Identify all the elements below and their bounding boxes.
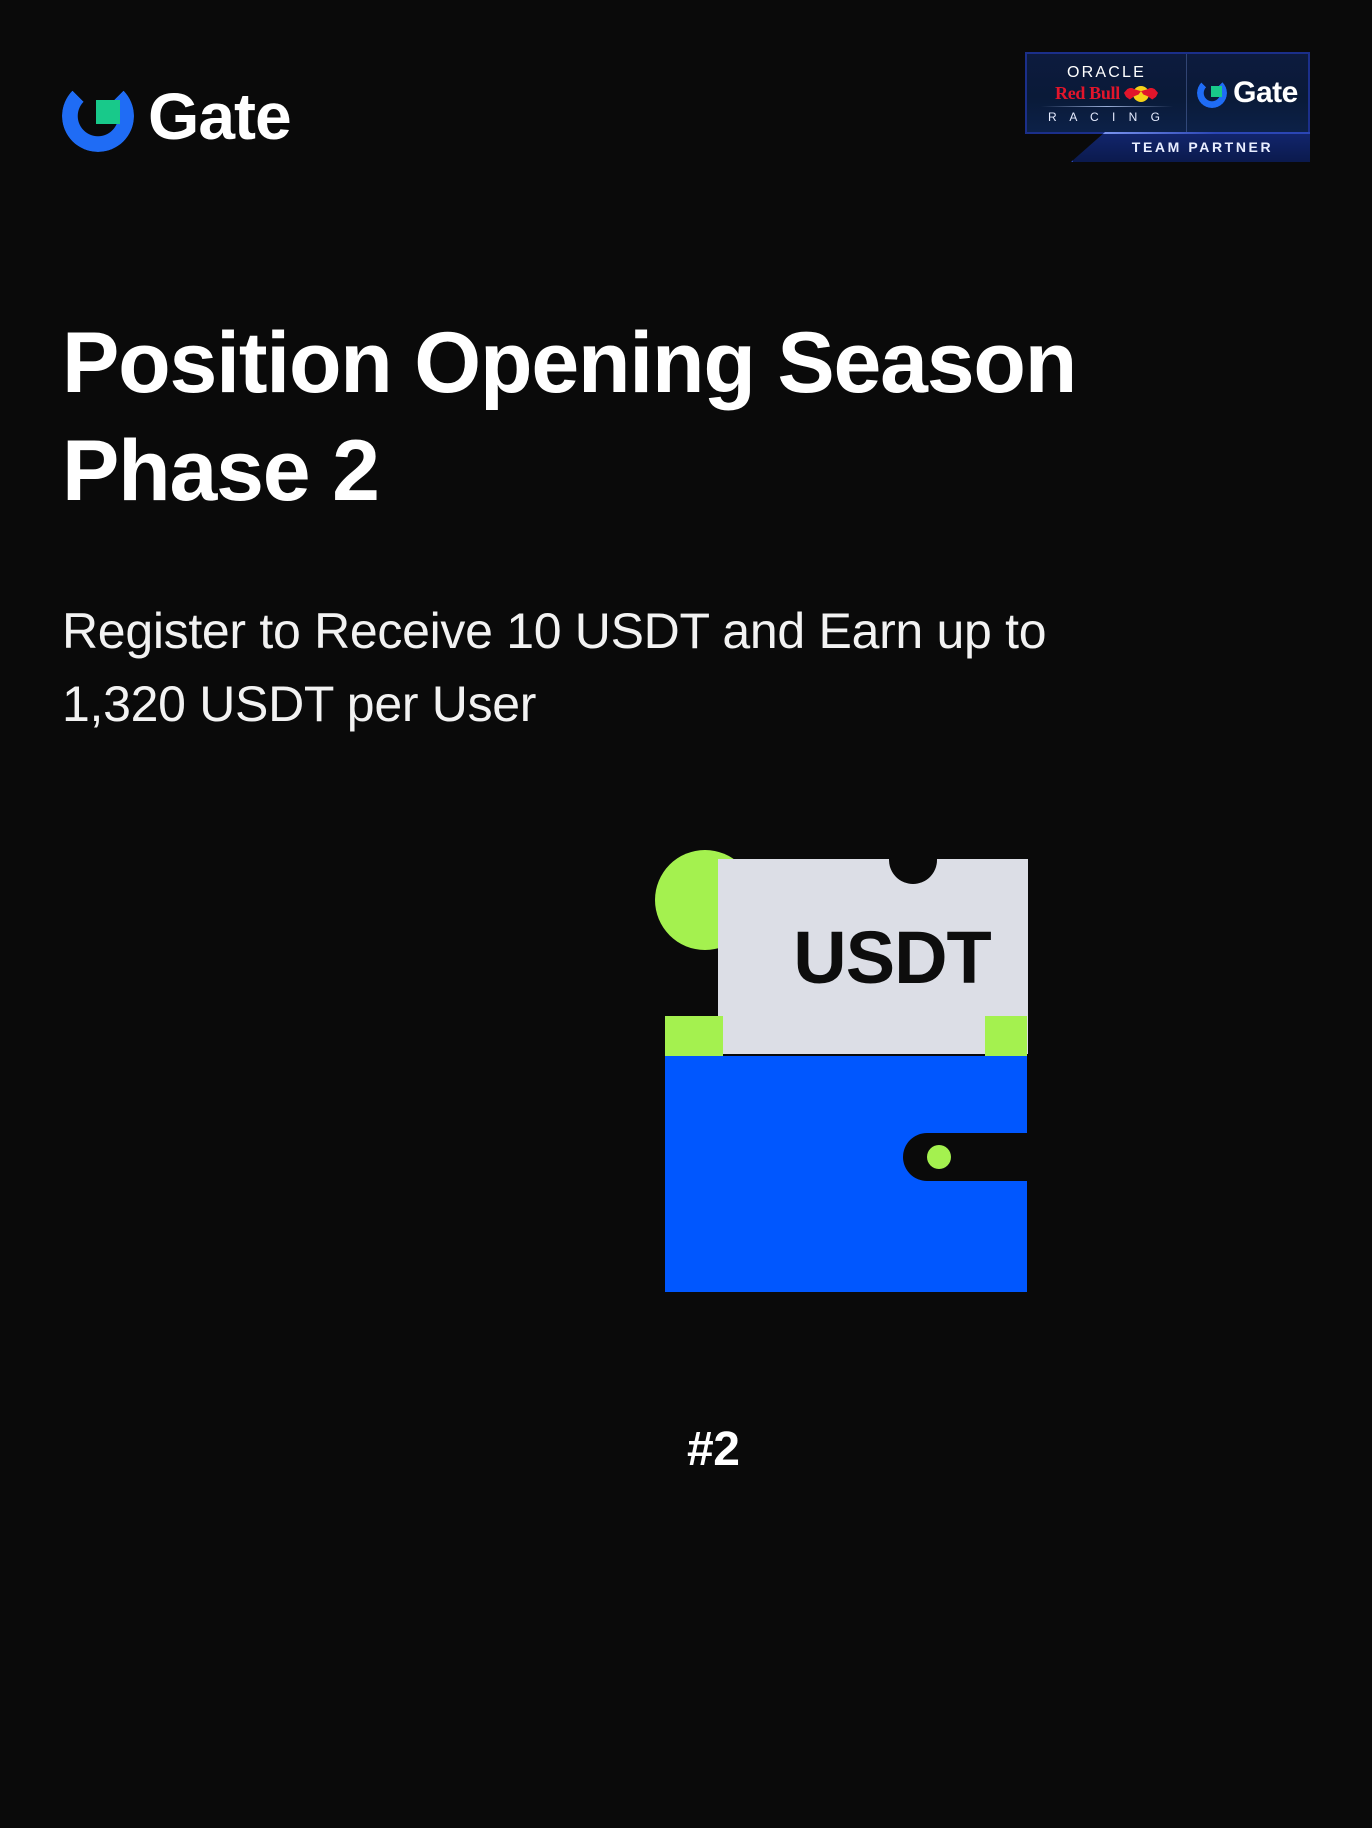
team-partner-label: TEAM PARTNER (1110, 140, 1273, 154)
wallet-rank-label: #2 (687, 1426, 739, 1474)
bull-text: Bull (1089, 84, 1120, 102)
gate-brand-logo[interactable]: Gate (62, 80, 291, 152)
oracle-text: ORACLE (1067, 65, 1146, 81)
card-notch-shape (889, 858, 937, 884)
wallet-clasp-dot-shape (927, 1145, 951, 1169)
usdt-card-label: USDT (718, 921, 1028, 995)
page-subtitle: Register to Receive 10 USDT and Earn up … (62, 595, 1162, 740)
green-square-right-shape (985, 1016, 1027, 1056)
oracle-red-bull-racing-lockup: ORACLE Red Bull R A C I N G (1027, 54, 1187, 132)
badge-main-panel: ORACLE Red Bull R A C I N G (1025, 52, 1310, 134)
gate-square-shape (1211, 86, 1222, 97)
badge-gate-wordmark: Gate (1233, 78, 1298, 108)
gate-wordmark: Gate (148, 83, 291, 149)
badge-gate-lockup: Gate (1187, 78, 1308, 108)
wallet-clasp-shape (903, 1133, 1027, 1181)
page-header: Gate ORACLE Red Bull R A C I N G (0, 0, 1372, 200)
page-title: Position Opening Season Phase 2 (62, 310, 1112, 525)
usdt-card-shape: USDT (718, 859, 1028, 1054)
usdt-wallet-illustration: USDT #2 (665, 850, 1085, 1310)
red-text: Red (1055, 84, 1085, 102)
red-bull-charging-bulls-icon (1124, 85, 1158, 102)
red-bull-lockup: Red Bull (1055, 84, 1158, 102)
red-bull-racing-partner-badge: ORACLE Red Bull R A C I N G (1025, 52, 1310, 164)
gate-logo-icon (62, 80, 134, 152)
gate-square-shape (96, 100, 120, 124)
team-partner-strip: TEAM PARTNER (1071, 132, 1310, 162)
gate-logo-icon (1197, 78, 1227, 108)
green-square-left-shape (665, 1016, 723, 1056)
racing-text: R A C I N G (1048, 111, 1165, 123)
badge-divider (1041, 106, 1173, 107)
